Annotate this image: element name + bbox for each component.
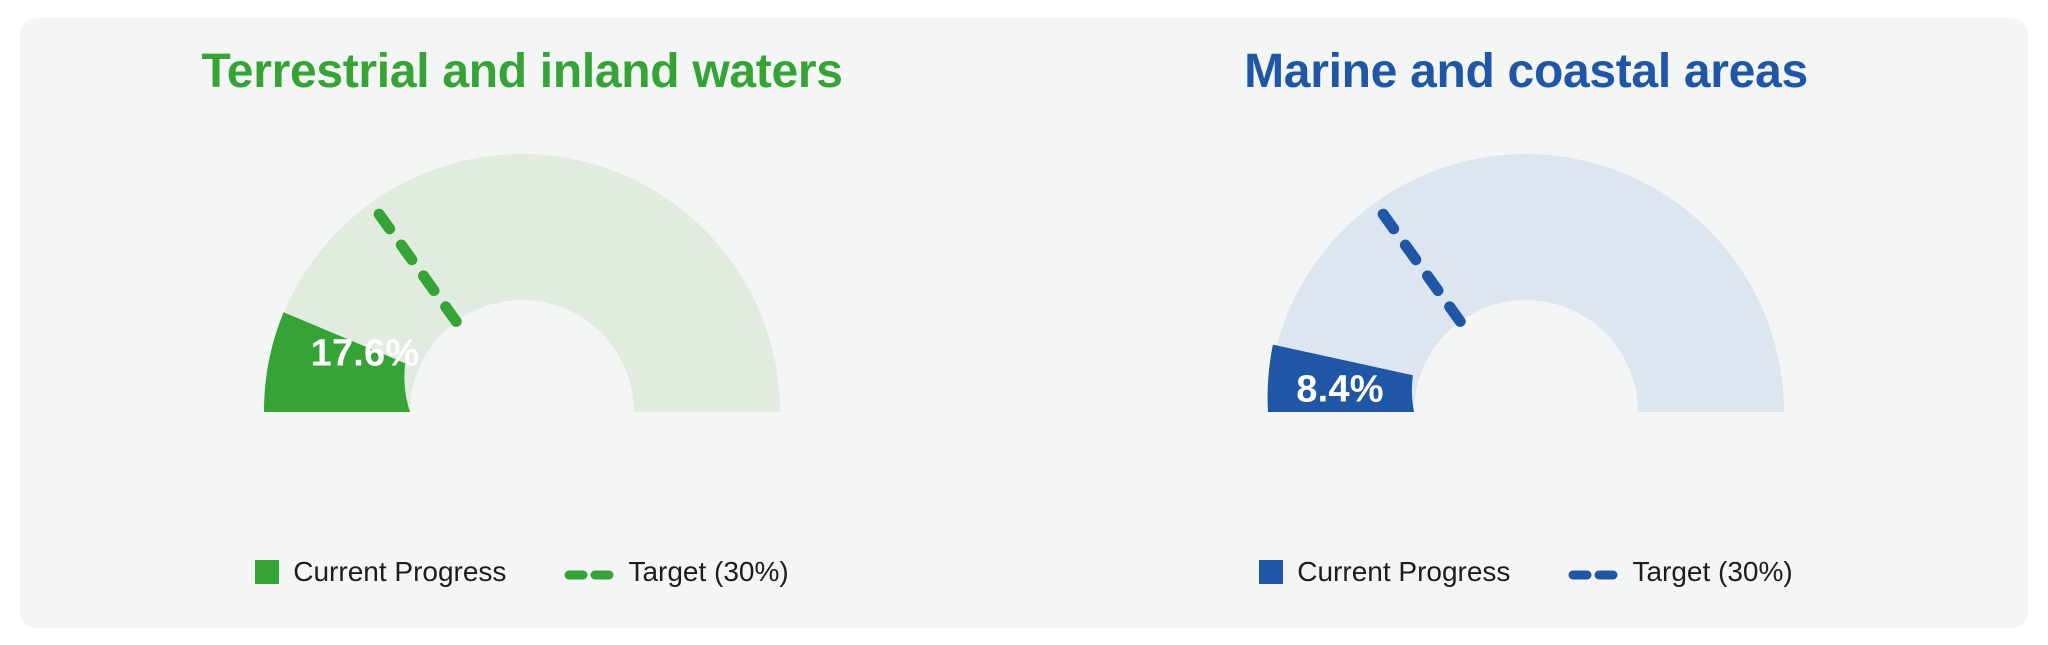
gauge-panel-terrestrial: Terrestrial and inland waters 17.6% Curr… [20,18,1024,628]
legend-dashed-line-icon [564,567,614,577]
legend-marine: Current Progress Target (30%) [1024,556,2028,588]
panel-title-terrestrial: Terrestrial and inland waters [20,46,1024,99]
legend-label-current-progress: Current Progress [1297,556,1510,588]
gauge-marine: 8.4% [1024,122,2028,422]
legend-item-current-progress[interactable]: Current Progress [1259,556,1510,588]
gauge-panel-marine: Marine and coastal areas 8.4% Current Pr… [1024,18,2028,628]
legend-swatch-square-icon [1259,560,1283,584]
gauge-value-label-terrestrial: 17.6% [311,333,420,376]
gauge-terrestrial: 17.6% [20,122,1024,422]
legend-dashed-line-icon [1568,567,1618,577]
panel-title-marine: Marine and coastal areas [1024,46,2028,99]
gauge-value-label-marine: 8.4% [1296,369,1383,412]
legend-label-target: Target (30%) [628,556,788,588]
gauge-svg-terrestrial [242,122,802,422]
legend-label-target: Target (30%) [1632,556,1792,588]
dashboard-card: Terrestrial and inland waters 17.6% Curr… [20,18,2028,628]
legend-swatch-square-icon [255,560,279,584]
gauge-panels: Terrestrial and inland waters 17.6% Curr… [20,18,2028,628]
legend-item-current-progress[interactable]: Current Progress [255,556,506,588]
legend-label-current-progress: Current Progress [293,556,506,588]
legend-item-target[interactable]: Target (30%) [1568,556,1792,588]
legend-item-target[interactable]: Target (30%) [564,556,788,588]
legend-terrestrial: Current Progress Target (30%) [20,556,1024,588]
